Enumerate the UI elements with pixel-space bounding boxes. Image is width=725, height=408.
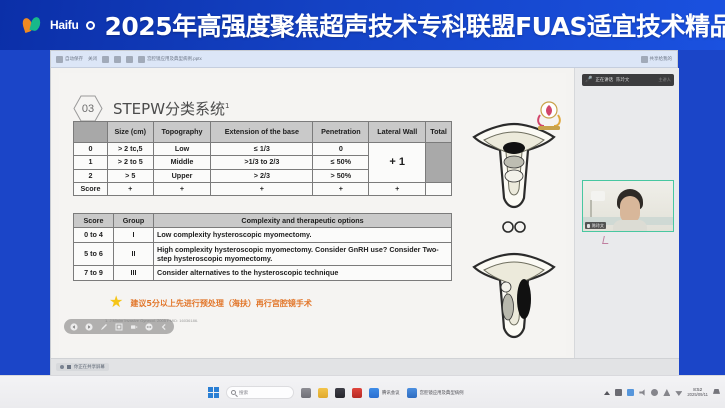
score-plus-size: + [108, 182, 154, 195]
stop-share-icon [67, 365, 71, 369]
participant-name: 陈玲文 [592, 223, 604, 229]
speaking-label: 正在讲话 [595, 77, 613, 83]
search-placeholder: 搜索 [239, 390, 248, 396]
th-group: Group [114, 214, 154, 228]
taskbar-clock[interactable]: 8:52 2025/09/11 [687, 387, 708, 397]
pen-icon[interactable] [100, 323, 108, 331]
conference-emblem-icon [534, 101, 564, 133]
shared-with-me-button[interactable]: 共享给我的 [641, 56, 673, 63]
save-icon[interactable] [126, 56, 133, 63]
share-indicator-icon [60, 365, 64, 369]
speaker-name: 陈玲文 [616, 77, 629, 83]
score-row-label: Score [74, 182, 108, 195]
table-row: 0 to 4 I Low complexity hysteroscopic my… [74, 228, 452, 242]
brand-name: Haifu [50, 18, 79, 32]
section-title: STEPW分类系统1 [113, 98, 230, 119]
undo-icon[interactable] [102, 56, 109, 63]
cell-group-2: III [114, 266, 154, 280]
stepw-groups-table: Score Group Complexity and therapeutic o… [73, 213, 452, 281]
previous-icon[interactable] [70, 323, 78, 331]
cell-total-blank [426, 143, 452, 183]
score-plus-penetration: + [313, 182, 369, 195]
system-tray: 8:52 2025/09/11 [604, 376, 720, 408]
slide-note: ★ 建议5分以上先进行预处理（海扶）再行宫腔镜手术 [109, 295, 312, 311]
bluetooth-icon[interactable] [627, 389, 634, 396]
share-icon [641, 56, 648, 63]
cell-topography-0: Low [153, 143, 211, 156]
cell-group-1: II [114, 242, 154, 266]
cell-penetration-0: 0 [313, 143, 369, 156]
slide-heading: 03 STEPW分类系统1 [73, 95, 230, 122]
folder-icon[interactable] [318, 388, 328, 398]
cell-size-2: > 5 [108, 169, 154, 182]
search-input[interactable]: 搜索 [226, 386, 294, 399]
cell-size-0: > 2 tc,5 [108, 143, 154, 156]
slideshow-toolbar[interactable] [64, 319, 174, 334]
cell-extension-2: > 2/3 [211, 169, 313, 182]
search-icon [231, 390, 236, 395]
th-extension: Extension of the base [211, 122, 313, 143]
section-number-badge: 03 [73, 95, 103, 122]
close-label: 关闭 [88, 56, 97, 62]
table-row: 0 > 2 tc,5 Low ≤ 1/3 0 + 1 [74, 143, 452, 156]
slide-canvas: 03 STEPW分类系统1 Size (cm) Topography Exten… [59, 73, 566, 356]
screen-share-status-bar: 你正在共享屏幕 [51, 358, 679, 375]
stop-sharing-button[interactable]: 你正在共享屏幕 [56, 363, 109, 371]
windows-taskbar: 搜索 腾讯会议 宫腔镜应用及典型病例 [0, 375, 725, 408]
network-icon[interactable] [663, 389, 670, 396]
powerpoint-icon[interactable]: 宫腔镜应用及典型病例 [407, 388, 464, 398]
table-row: 7 to 9 III Consider alternatives to the … [74, 266, 452, 280]
active-speaker-chip: 🎤 正在讲话 陈玲文 主讲人 [582, 74, 674, 86]
cell-extension-1: >1/3 to 2/3 [211, 156, 313, 169]
participant-name-badge: 陈玲文 [585, 222, 606, 229]
haifu-logo-icon [22, 14, 44, 36]
autosave-icon [56, 56, 63, 63]
lamp-shape [591, 191, 605, 201]
table-header-row: Score Group Complexity and therapeutic o… [74, 214, 452, 228]
th-topography: Topography [153, 122, 211, 143]
row-label-0: 0 [74, 143, 108, 156]
cell-penetration-2: > 50% [313, 169, 369, 182]
th-size: Size (cm) [108, 122, 154, 143]
cell-desc-2: Consider alternatives to the hysteroscop… [154, 266, 452, 280]
event-banner: Haifu 2025年高强度聚焦超声技术专科联盟FUAS适宜技术精品学习班 [0, 0, 725, 50]
banner-title: 2025年高强度聚焦超声技术专科联盟FUAS适宜技术精品学习班 [105, 7, 725, 43]
taskbar-items: 搜索 腾讯会议 宫腔镜应用及典型病例 [208, 376, 464, 408]
th-penetration: Penetration [313, 122, 369, 143]
cell-desc-0: Low complexity hysteroscopic myomectomy. [154, 228, 452, 242]
cell-lateral-wall: + 1 [369, 143, 426, 183]
ime-icon[interactable] [651, 389, 658, 396]
pointer-icon[interactable] [115, 323, 123, 331]
th-corner [74, 122, 108, 143]
cell-extension-0: ≤ 1/3 [211, 143, 313, 156]
cell-size-1: > 2 to 5 [108, 156, 154, 169]
meeting-label: 腾讯会议 [382, 390, 400, 396]
mouse-cursor [602, 236, 610, 244]
autosave-label: 自动保存 [65, 56, 83, 62]
participant-video-tile[interactable]: 陈玲文 [582, 180, 674, 232]
cell-score-0: 0 to 4 [74, 228, 114, 242]
office-quick-access-toolbar: 自动保存 关闭 宫腔镜应用及典型病例.pptx 共享给我的 [51, 51, 677, 68]
row-label-1: 1 [74, 156, 108, 169]
cell-topography-2: Upper [153, 169, 211, 182]
speaker-role: 主讲人 [658, 77, 671, 83]
score-total-blank [426, 182, 452, 195]
close-button[interactable]: 关闭 [88, 56, 97, 62]
cell-score-2: 7 to 9 [74, 266, 114, 280]
cell-score-1: 5 to 6 [74, 242, 114, 266]
cell-desc-1: High complexity hysteroscopic myomectomy… [154, 242, 452, 266]
file-explorer-icon[interactable] [301, 388, 311, 398]
volume-icon[interactable] [639, 389, 646, 396]
th-total: Total [426, 122, 452, 143]
table-header-row: Size (cm) Topography Extension of the ba… [74, 122, 452, 143]
mic-icon: 🎤 [585, 77, 592, 83]
battery-icon[interactable] [615, 389, 622, 396]
table-row: 5 to 6 II High complexity hysteroscopic … [74, 242, 452, 266]
mic-muted-icon [587, 224, 590, 228]
participant-avatar [617, 189, 643, 229]
clock-date: 2025/09/11 [687, 393, 708, 398]
shield-icon[interactable] [352, 388, 362, 398]
next-icon[interactable] [85, 323, 93, 331]
slide-stage: 03 STEPW分类系统1 Size (cm) Topography Exten… [51, 68, 574, 358]
meeting-icon[interactable]: 腾讯会议 [369, 388, 400, 398]
file-icon [138, 56, 145, 63]
conference-participants-panel: 🎤 正在讲话 陈玲文 主讲人 陈玲文 [574, 68, 679, 358]
row-label-2: 2 [74, 169, 108, 182]
chevron-up-icon[interactable] [604, 391, 610, 395]
stepw-scoring-table: Size (cm) Topography Extension of the ba… [73, 121, 452, 196]
table-score-row: Score + + + + + [74, 182, 452, 195]
book-icon[interactable] [335, 388, 345, 398]
star-icon: ★ [109, 295, 123, 311]
section-number: 03 [82, 103, 94, 115]
cell-penetration-1: ≤ 50% [313, 156, 369, 169]
notification-icon[interactable] [713, 389, 720, 396]
powerpoint-window: 自动保存 关闭 宫腔镜应用及典型病例.pptx 共享给我的 [50, 50, 678, 375]
score-plus-lateral: + [369, 182, 426, 195]
share-status-label: 你正在共享屏幕 [74, 364, 105, 370]
uterus-diagram-2 [464, 221, 564, 346]
cell-group-0: I [114, 228, 154, 242]
th-lateral-wall: Lateral Wall [369, 122, 426, 143]
powerpoint-label: 宫腔镜应用及典型病例 [420, 390, 464, 396]
note-text: 建议5分以上先进行预处理（海扶）再行宫腔镜手术 [130, 298, 312, 309]
redo-icon[interactable] [114, 56, 121, 63]
th-group-score: Score [74, 214, 114, 228]
score-plus-topography: + [153, 182, 211, 195]
document-title[interactable]: 宫腔镜应用及典型病例.pptx [138, 56, 202, 63]
windows-start-icon[interactable] [208, 387, 219, 398]
brand-logo: Haifu [22, 14, 95, 36]
cell-topography-1: Middle [153, 156, 211, 169]
more-icon[interactable] [145, 323, 153, 331]
wifi-icon[interactable] [675, 389, 682, 396]
logo-dot-icon [86, 21, 95, 30]
collapse-icon[interactable] [160, 323, 168, 331]
autosave-toggle[interactable]: 自动保存 [56, 56, 83, 63]
record-icon[interactable] [130, 323, 138, 331]
th-complexity: Complexity and therapeutic options [154, 214, 452, 228]
score-plus-extension: + [211, 182, 313, 195]
screen-root: Haifu 2025年高强度聚焦超声技术专科联盟FUAS适宜技术精品学习班 自动… [0, 0, 725, 408]
